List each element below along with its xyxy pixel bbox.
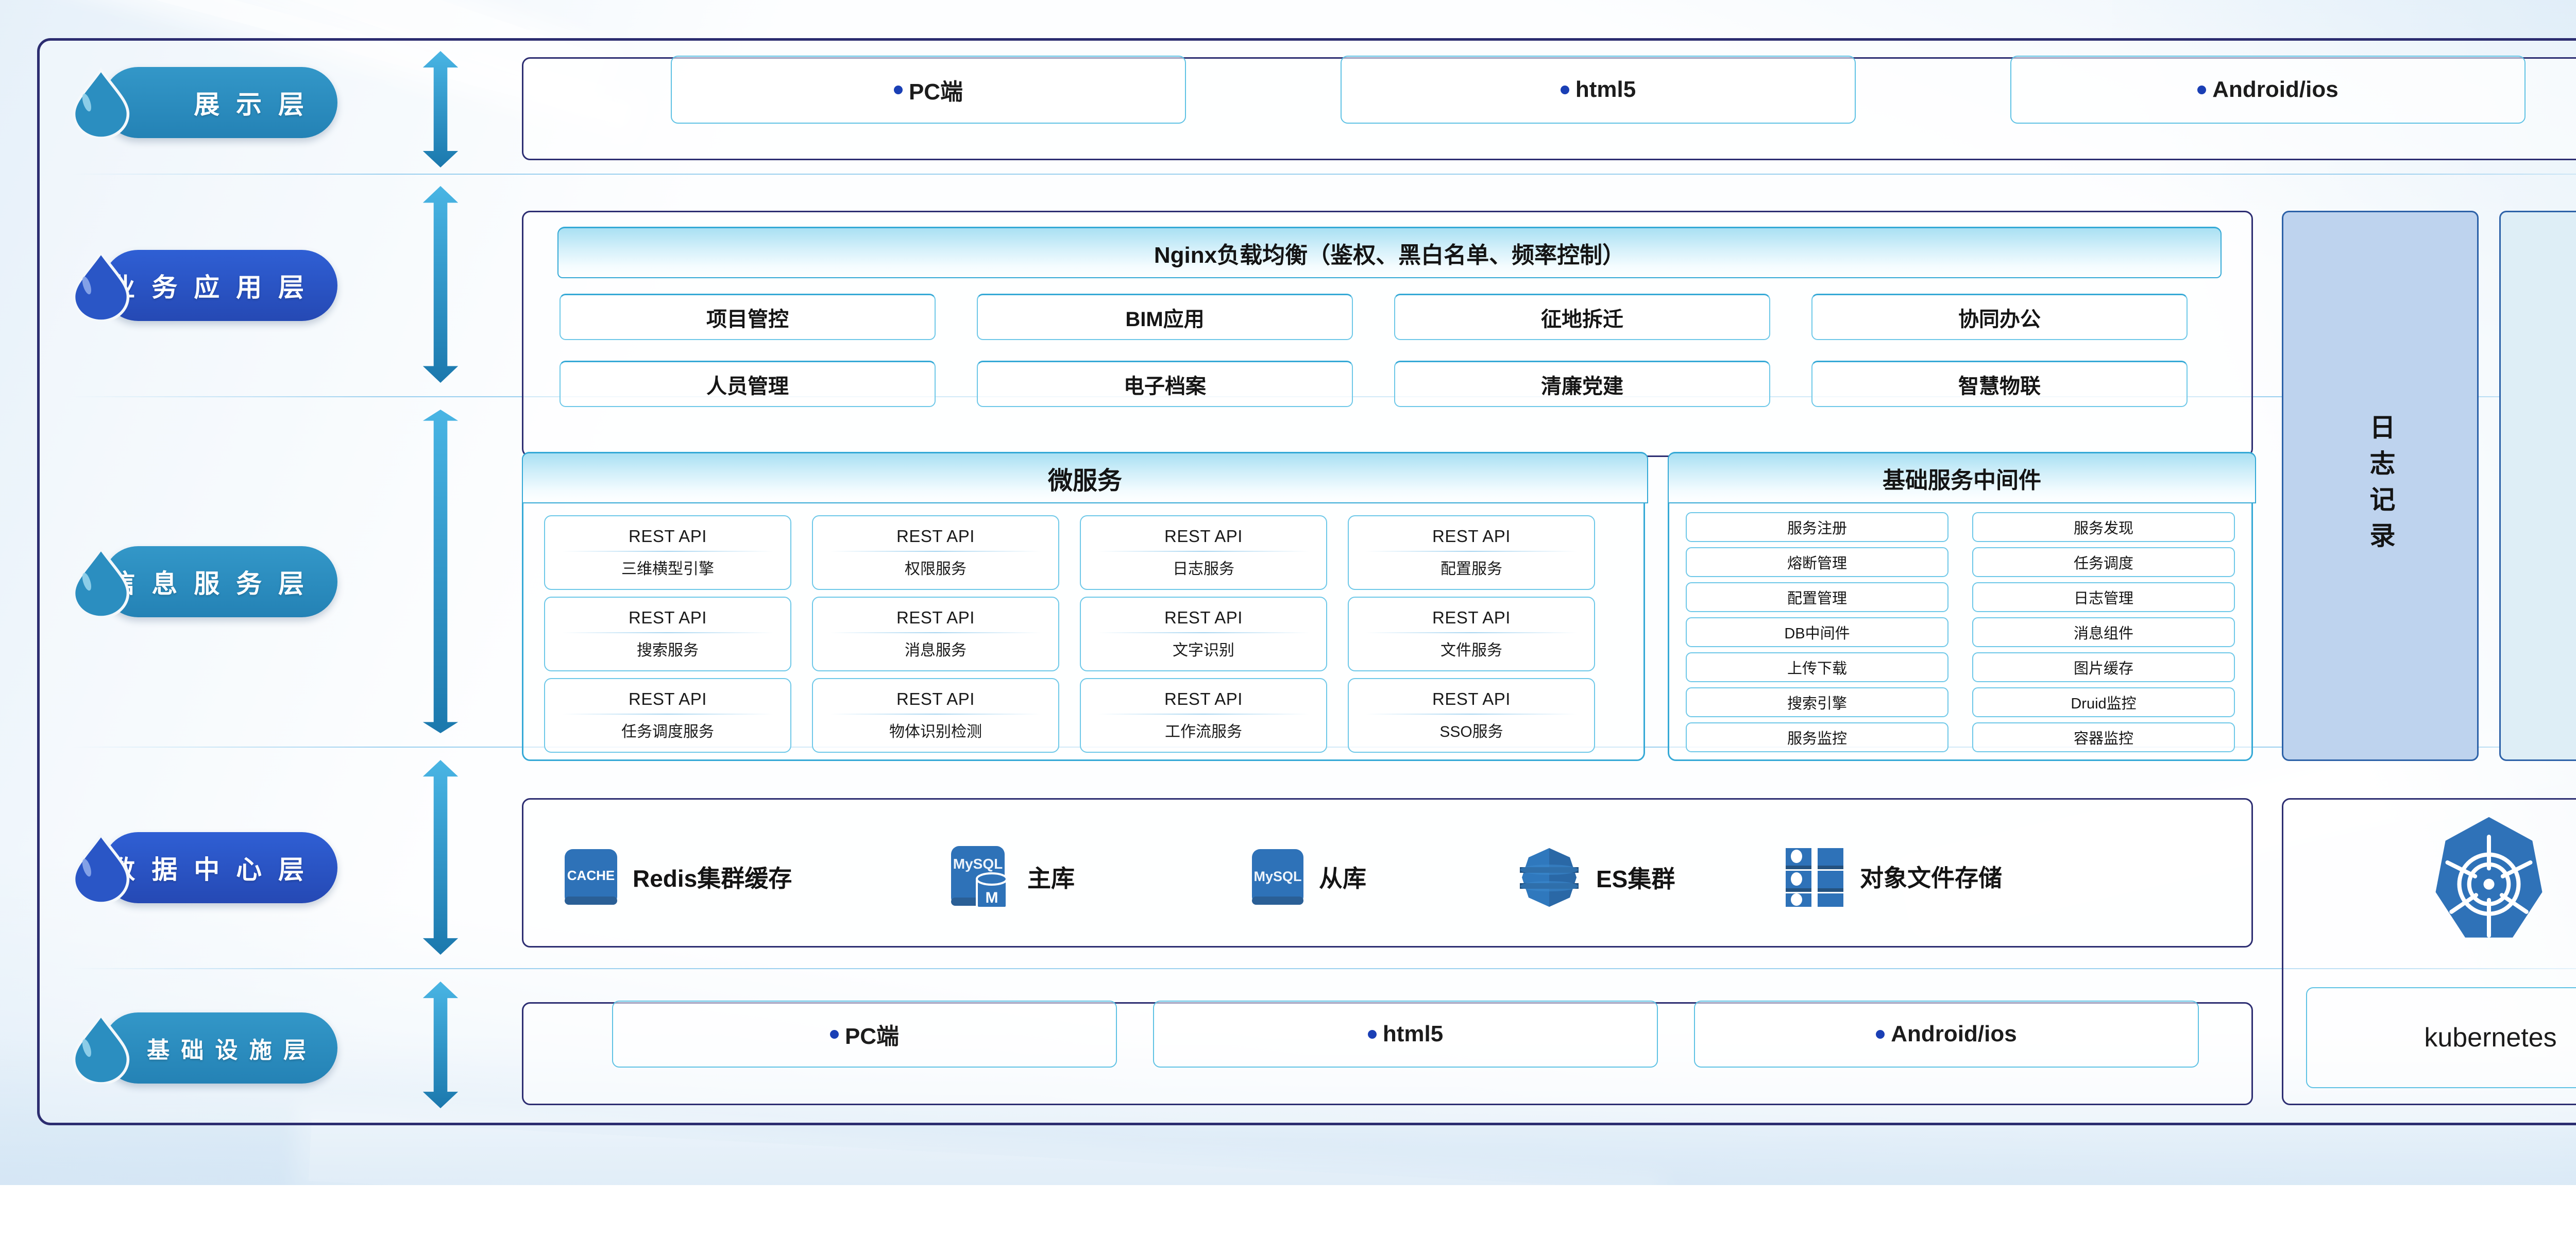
middleware-item[interactable]: 服务发现 [1972,512,2235,542]
infrastructure-layer-panel: PC端 html5 Android/ios [522,1002,2253,1105]
middleware-item[interactable]: Druid监控 [1972,687,2235,717]
microservice-name: 权限服务 [905,556,967,579]
layer-connector-arrow [421,410,460,733]
infra-client-label: html5 [1383,1021,1443,1047]
middleware-item-label: 消息组件 [2074,621,2133,643]
rest-api-label: REST API [1164,527,1243,546]
bullet-icon [830,1030,839,1039]
object-storage-icon [1784,845,1846,908]
rest-api-label: REST API [896,689,975,709]
client-label: html5 [1575,77,1636,103]
layer-badge-label: 数 据 中 心 层 [109,849,309,886]
bullet-icon [894,86,903,94]
middleware-item-label: DB中间件 [1784,621,1850,643]
middleware-item-label: 服务注册 [1787,516,1847,538]
app-module[interactable]: 电子档案 [977,361,1353,407]
app-module-label: 清廉党建 [1541,369,1623,399]
middleware-item-label: 搜索引擎 [1787,691,1847,713]
app-module-label: BIM应用 [1125,302,1204,332]
layer-badge-label: 展 示 层 [194,84,309,121]
client-label: PC端 [909,73,963,106]
card-divider [1098,632,1309,633]
layer-badge-application[interactable]: 业 务 应 用 层 [65,247,337,324]
microservices-title-bar: 微服务 [522,452,1648,503]
water-drop-icon [65,546,137,617]
card-divider [1366,551,1577,552]
row-separator [71,968,2576,969]
middleware-item[interactable]: DB中间件 [1686,617,1948,647]
infra-client-label: Android/ios [1891,1021,2016,1047]
layer-badge-label: 信 息 服 务 层 [109,563,309,600]
app-module[interactable]: 智慧物联 [1811,361,2188,407]
kubernetes-panel[interactable]: kubernetes [2282,798,2576,1105]
mysql-master-icon: MySQL M [949,844,1014,910]
bullet-icon [1561,86,1569,94]
kubernetes-label-box[interactable]: kubernetes [2306,987,2576,1088]
mysql-slave-icon: MySQL [1250,847,1306,907]
nginx-gateway-label: Nginx负载均衡（鉴权、黑白名单、频率控制） [1154,236,1625,269]
side-panel-auth[interactable]: 权限控制 [2499,211,2576,761]
water-drop-icon [65,67,137,138]
middleware-item-label: 配置管理 [1787,586,1847,608]
app-module-label: 征地拆迁 [1541,302,1623,332]
rest-api-label: REST API [1432,689,1511,709]
rest-api-label: REST API [629,527,707,546]
client-tile-mobile[interactable]: Android/ios [2010,56,2526,124]
middleware-item[interactable]: 日志管理 [1972,582,2235,612]
rest-api-label: REST API [896,608,975,628]
app-module-label: 智慧物联 [1958,369,2041,399]
middleware-item-label: 熔断管理 [1787,551,1847,573]
rest-api-label: REST API [629,608,707,628]
card-divider [562,632,773,633]
side-panel-log[interactable]: 日志记录 [2282,211,2479,761]
microservice-card[interactable]: REST API 日志服务 [1080,515,1327,590]
svg-text:MySQL: MySQL [1253,869,1301,884]
microservice-name: 任务调度服务 [621,719,714,741]
app-module-label: 项目管控 [706,302,789,332]
microservice-card[interactable]: REST API 文件服务 [1348,597,1595,671]
app-module[interactable]: 项目管控 [560,294,936,340]
card-divider [1366,632,1577,633]
microservices-panel: 微服务 REST API 三维横型引擎 REST API 权限服务 REST A… [522,452,1645,761]
app-module[interactable]: 协同办公 [1811,294,2188,340]
water-drop-icon [65,832,137,903]
middleware-item[interactable]: 任务调度 [1972,547,2235,577]
microservices-title: 微服务 [1048,460,1122,496]
data-store-mysql-slave[interactable]: MySQL 从库 [1250,847,1366,907]
data-store-redis[interactable]: CACHE Redis集群缓存 [563,847,792,907]
middleware-title: 基础服务中间件 [1883,462,2041,495]
middleware-panel: 基础服务中间件 服务注册 服务发现 熔断管理 任务调度 配置管理 日志管理 DB… [1668,452,2253,761]
middleware-item[interactable]: 熔断管理 [1686,547,1948,577]
app-module[interactable]: BIM应用 [977,294,1353,340]
app-module-label: 电子档案 [1124,369,1206,399]
app-module[interactable]: 清廉党建 [1394,361,1770,407]
microservice-card[interactable]: REST API 搜索服务 [544,597,791,671]
app-module[interactable]: 人员管理 [560,361,936,407]
middleware-item[interactable]: 图片缓存 [1972,652,2235,682]
microservice-name: 消息服务 [905,637,967,660]
kubernetes-label: kubernetes [2424,1022,2556,1053]
architecture-diagram-frame: 展 示 层 业 务 应 用 层 信 息 服 务 层 数 据 中 心 层 [37,38,2576,1125]
layer-badge-infrastructure[interactable]: 基 础 设 施 层 [65,1009,337,1087]
layer-connector-arrow [421,186,460,383]
data-store-label: 主库 [1027,860,1075,894]
rest-api-label: REST API [1432,608,1511,628]
middleware-item-label: 服务发现 [2074,516,2133,538]
card-divider [830,632,1041,633]
middleware-item-label: 上传下载 [1787,656,1847,678]
microservice-name: 三维横型引擎 [621,556,714,579]
microservice-card[interactable]: REST API SSO服务 [1348,678,1595,753]
client-label: Android/ios [2212,77,2338,103]
data-store-mysql-master[interactable]: MySQL M 主库 [949,844,1075,910]
middleware-item[interactable]: 上传下载 [1686,652,1948,682]
bullet-icon [1368,1030,1377,1039]
data-store-elasticsearch[interactable]: ES集群 [1516,844,1675,911]
middleware-item[interactable]: 容器监控 [1972,722,2235,752]
rest-api-label: REST API [1432,527,1511,546]
microservice-card[interactable]: REST API 三维横型引擎 [544,515,791,590]
microservice-name: SSO服务 [1439,719,1503,741]
side-panel-log-label: 日志记录 [2361,414,2400,558]
microservice-name: 文件服务 [1440,637,1502,660]
svg-text:CACHE: CACHE [567,868,615,883]
card-divider [830,714,1041,715]
infra-client-tile-mobile[interactable]: Android/ios [1694,1001,2199,1068]
water-drop-icon [65,1012,137,1084]
microservice-name: 搜索服务 [637,637,699,660]
microservice-name: 日志服务 [1173,556,1234,579]
layer-badge-service[interactable]: 信 息 服 务 层 [65,543,337,620]
data-center-panel: CACHE Redis集群缓存 MySQL M 主库 [522,798,2253,948]
app-module-label: 协同办公 [1958,302,2041,332]
layer-connector-arrow [421,51,460,167]
data-store-label: 从库 [1319,860,1366,894]
card-divider [1098,714,1309,715]
middleware-item-label: 图片缓存 [2074,656,2133,678]
water-drop-icon [65,250,137,321]
svg-text:M: M [986,889,998,906]
card-divider [562,714,773,715]
data-store-object-storage[interactable]: 对象文件存储 [1784,845,2002,908]
middleware-item[interactable]: 搜索引擎 [1686,687,1948,717]
layer-badge-data-center[interactable]: 数 据 中 心 层 [65,829,337,906]
data-store-label: ES集群 [1596,860,1675,894]
layer-badge-label: 业 务 应 用 层 [109,267,309,304]
client-tile-html5[interactable]: html5 [1341,56,1856,124]
middleware-title-bar: 基础服务中间件 [1668,452,2256,503]
infra-client-tile-html5[interactable]: html5 [1153,1001,1658,1068]
bullet-icon [2197,86,2206,94]
bullet-icon [1876,1030,1885,1039]
data-store-label: 对象文件存储 [1860,859,2002,893]
middleware-item[interactable]: 消息组件 [1972,617,2235,647]
microservice-card[interactable]: REST API 消息服务 [812,597,1059,671]
app-module-label: 人员管理 [706,369,789,399]
svg-text:MySQL: MySQL [953,856,1003,872]
elasticsearch-icon [1516,844,1583,911]
microservice-name: 文字识别 [1173,637,1234,660]
microservice-card[interactable]: REST API 权限服务 [812,515,1059,590]
layer-badge-presentation[interactable]: 展 示 层 [65,64,337,141]
layer-connector-arrow [421,760,460,955]
middleware-item-label: 日志管理 [2074,586,2133,608]
row-separator [71,174,2576,175]
card-divider [830,551,1041,552]
microservice-card[interactable]: REST API 任务调度服务 [544,678,791,753]
middleware-item-label: 任务调度 [2074,551,2133,573]
microservice-name: 物体识别检测 [889,719,982,741]
middleware-item-label: 服务监控 [1787,726,1847,748]
app-module[interactable]: 征地拆迁 [1394,294,1770,340]
microservice-card[interactable]: REST API 工作流服务 [1080,678,1327,753]
cache-icon: CACHE [563,847,619,907]
middleware-item[interactable]: 服务监控 [1686,722,1948,752]
rest-api-label: REST API [1164,608,1243,628]
rest-api-label: REST API [629,689,707,709]
middleware-item[interactable]: 配置管理 [1686,582,1948,612]
client-tile-pc[interactable]: PC端 [671,56,1186,124]
microservice-card[interactable]: REST API 配置服务 [1348,515,1595,590]
data-store-label: Redis集群缓存 [633,860,792,894]
microservice-card[interactable]: REST API 物体识别检测 [812,678,1059,753]
microservice-name: 配置服务 [1440,556,1502,579]
middleware-item[interactable]: 服务注册 [1686,512,1948,542]
layer-connector-arrow [421,982,460,1108]
microservice-card[interactable]: REST API 文字识别 [1080,597,1327,671]
rest-api-label: REST API [1164,689,1243,709]
rest-api-label: REST API [896,527,975,546]
infra-client-tile-pc[interactable]: PC端 [612,1001,1117,1068]
layer-badge-label: 基 础 设 施 层 [147,1032,309,1064]
kubernetes-helm-icon [2430,808,2548,962]
presentation-layer-panel: PC端 html5 Android/ios [522,57,2576,160]
middleware-item-label: 容器监控 [2074,726,2133,748]
nginx-gateway-bar[interactable]: Nginx负载均衡（鉴权、黑白名单、频率控制） [557,227,2222,278]
card-divider [1366,714,1577,715]
application-layer-panel: Nginx负载均衡（鉴权、黑白名单、频率控制） 项目管控 BIM应用 征地拆迁 … [522,211,2253,457]
middleware-item-label: Druid监控 [2071,691,2136,713]
infra-client-label: PC端 [845,1018,899,1051]
card-divider [1098,551,1309,552]
card-divider [562,551,773,552]
microservice-name: 工作流服务 [1165,719,1242,741]
